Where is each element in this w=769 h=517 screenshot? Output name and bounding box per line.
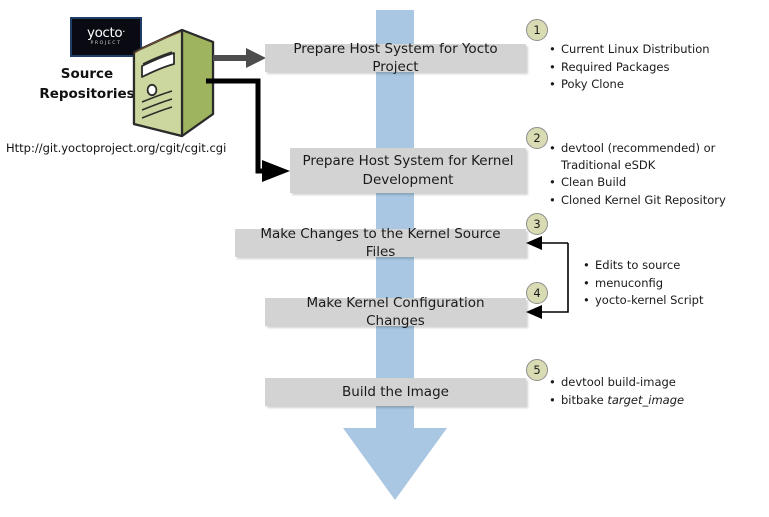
note-item: Edits to source [582, 257, 704, 274]
diagram-canvas: yocto· PROJECT Source Repositories Http:… [0, 0, 769, 517]
notes-step5: devtool build-image bitbake target_image [548, 374, 684, 409]
note-item: devtool (recommended) or Traditional eSD… [548, 140, 751, 173]
note-text: devtool build-image [561, 375, 676, 389]
note-text: bitbake [561, 393, 607, 407]
process-box-step2[interactable]: Prepare Host System for Kernel Developme… [290, 148, 526, 193]
notes-list-step34: Edits to source menuconfig yocto-kernel … [582, 257, 704, 309]
step-badge-3: 3 [526, 213, 548, 235]
notes-step3-step4: Edits to source menuconfig yocto-kernel … [582, 257, 704, 310]
note-item: menuconfig [582, 275, 704, 292]
process-box-step1[interactable]: Prepare Host System for Yocto Project [265, 44, 526, 72]
notes-list-step5: devtool build-image bitbake target_image [548, 374, 684, 408]
step-badge-4: 4 [526, 282, 548, 304]
note-item: Clean Build [548, 174, 751, 191]
process-box-step5[interactable]: Build the Image [265, 378, 526, 406]
note-item: devtool build-image [548, 374, 684, 391]
notes-step2: devtool (recommended) or Traditional eSD… [548, 140, 751, 210]
note-item: bitbake target_image [548, 392, 684, 409]
note-text-italic: target_image [607, 393, 684, 407]
process-box-step3[interactable]: Make Changes to the Kernel Source Files [235, 229, 526, 257]
note-item: Poky Clone [548, 76, 710, 93]
step-badge-1: 1 [526, 19, 548, 41]
note-item: Current Linux Distribution [548, 41, 710, 58]
step-badge-2: 2 [526, 127, 548, 149]
note-item: Cloned Kernel Git Repository [548, 192, 751, 209]
notes-list-step2: devtool (recommended) or Traditional eSD… [548, 140, 751, 209]
note-item: yocto-kernel Script [582, 292, 704, 309]
notes-list-step1: Current Linux Distribution Required Pack… [548, 41, 710, 93]
note-item: Required Packages [548, 59, 710, 76]
process-box-step4[interactable]: Make Kernel Configuration Changes [265, 298, 526, 326]
notes-step1: Current Linux Distribution Required Pack… [548, 41, 710, 94]
step-badge-5: 5 [526, 359, 548, 381]
